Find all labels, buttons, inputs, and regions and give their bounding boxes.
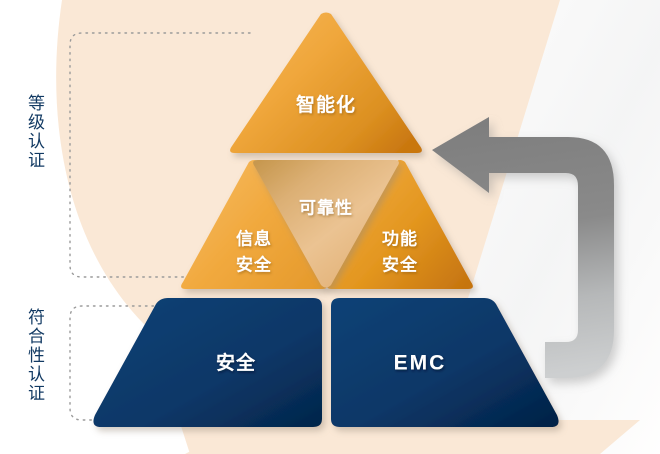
block-emc[interactable]: EMC xyxy=(331,298,559,427)
block-safety-label: 安全 xyxy=(216,351,256,374)
block-intelligent[interactable]: 智能化 xyxy=(230,13,422,154)
block-intelligent-label: 智能化 xyxy=(296,93,356,116)
block-safety-shape xyxy=(93,298,322,427)
block-intelligent-shape xyxy=(230,13,422,154)
block-functional-safety-label-line1: 功能 xyxy=(382,228,418,248)
block-information-security-label-line2: 安全 xyxy=(236,254,272,274)
pyramid-layer: 智能化 信息 安全 功能 安全 可靠性 安全 EMC xyxy=(0,0,660,454)
diagram-canvas: 智能化 信息 安全 功能 安全 可靠性 安全 EMC 等级 xyxy=(0,0,660,454)
block-information-security-label-line1: 信息 xyxy=(236,228,272,248)
side-label-grade-certification: 等级认证 xyxy=(26,94,43,170)
side-label-compliance-certification: 符合性认证 xyxy=(26,308,43,403)
block-functional-safety-label-line2: 安全 xyxy=(382,254,418,274)
block-reliability-label: 可靠性 xyxy=(299,197,353,217)
block-safety[interactable]: 安全 xyxy=(93,298,322,427)
block-emc-label: EMC xyxy=(394,352,447,375)
